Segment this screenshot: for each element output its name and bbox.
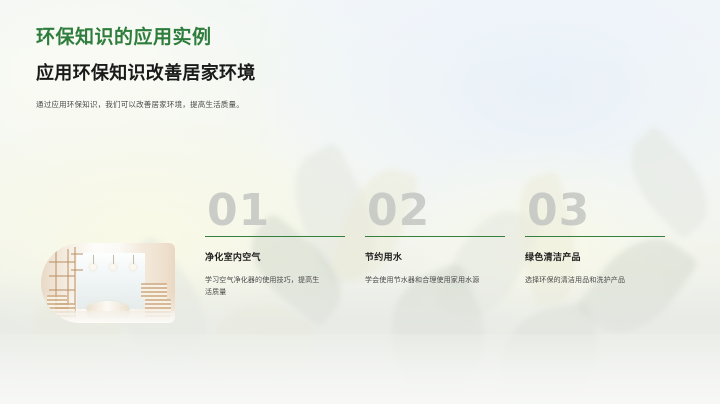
feature-description: 学习空气净化器的使用技巧，提高生活质量 xyxy=(205,275,325,298)
page-lede: 通过应用环保知识，我们可以改善居家环境，提高生活质量。 xyxy=(36,99,506,110)
feature-divider xyxy=(525,236,665,238)
feature-heading: 绿色清洁产品 xyxy=(525,253,675,264)
feature-description: 选择环保的清洁用品和洗护产品 xyxy=(525,275,645,287)
feature-number: 02 xyxy=(365,190,515,232)
feature-number: 01 xyxy=(205,190,355,232)
feature-description: 学会使用节水器和合理使用家用水源 xyxy=(365,275,485,287)
feature-divider xyxy=(205,236,345,238)
library-photo xyxy=(41,243,175,323)
background-bottom-haze xyxy=(0,334,720,404)
feature-heading: 节约用水 xyxy=(365,253,515,264)
feature-number: 03 xyxy=(525,190,675,232)
slide-root: 环保知识的应用实例 应用环保知识改善居家环境 通过应用环保知识，我们可以改善居家… xyxy=(0,0,720,404)
feature-column-1: 01 净化室内空气 学习空气净化器的使用技巧，提高生活质量 xyxy=(205,190,355,298)
section-eyebrow-title: 环保知识的应用实例 xyxy=(36,26,506,49)
feature-column-3: 03 绿色清洁产品 选择环保的清洁用品和洗护产品 xyxy=(525,190,675,287)
library-photo-image xyxy=(41,243,175,323)
feature-divider xyxy=(365,236,505,238)
feature-column-2: 02 节约用水 学会使用节水器和合理使用家用水源 xyxy=(365,190,515,287)
header-block: 环保知识的应用实例 应用环保知识改善居家环境 通过应用环保知识，我们可以改善居家… xyxy=(36,26,506,111)
page-title: 应用环保知识改善居家环境 xyxy=(36,63,506,86)
feature-heading: 净化室内空气 xyxy=(205,253,355,264)
